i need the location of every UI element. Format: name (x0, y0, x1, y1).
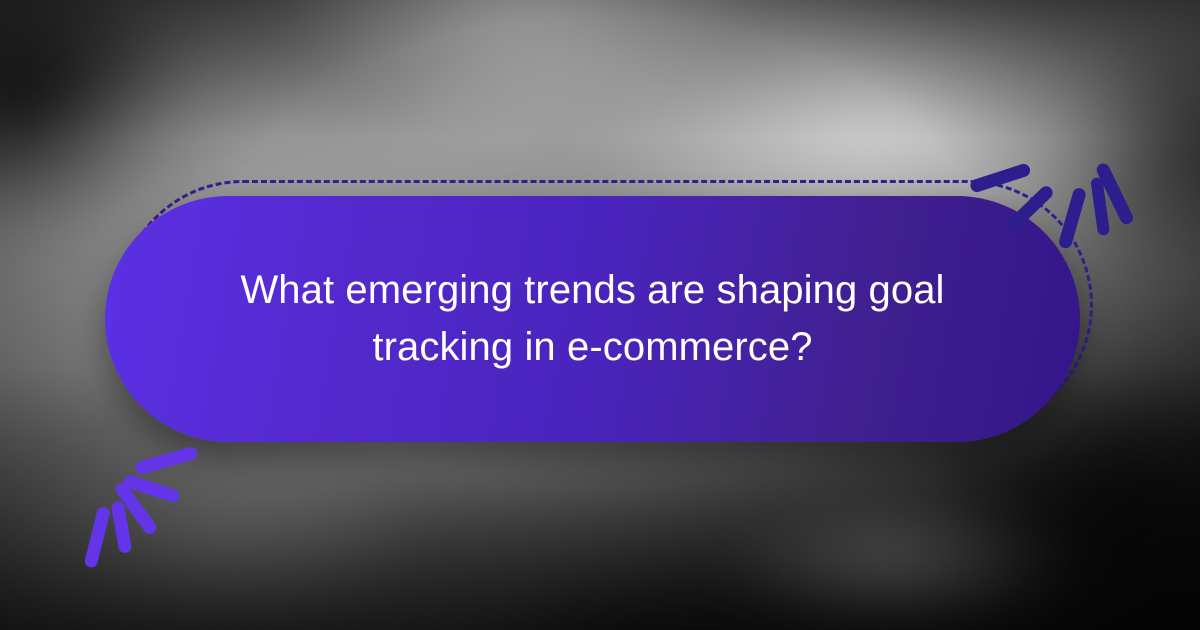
question-card: What emerging trends are shaping goal tr… (105, 196, 1080, 442)
card-question-title: What emerging trends are shaping goal tr… (158, 262, 1028, 376)
share-card-canvas: What emerging trends are shaping goal tr… (0, 0, 1200, 630)
